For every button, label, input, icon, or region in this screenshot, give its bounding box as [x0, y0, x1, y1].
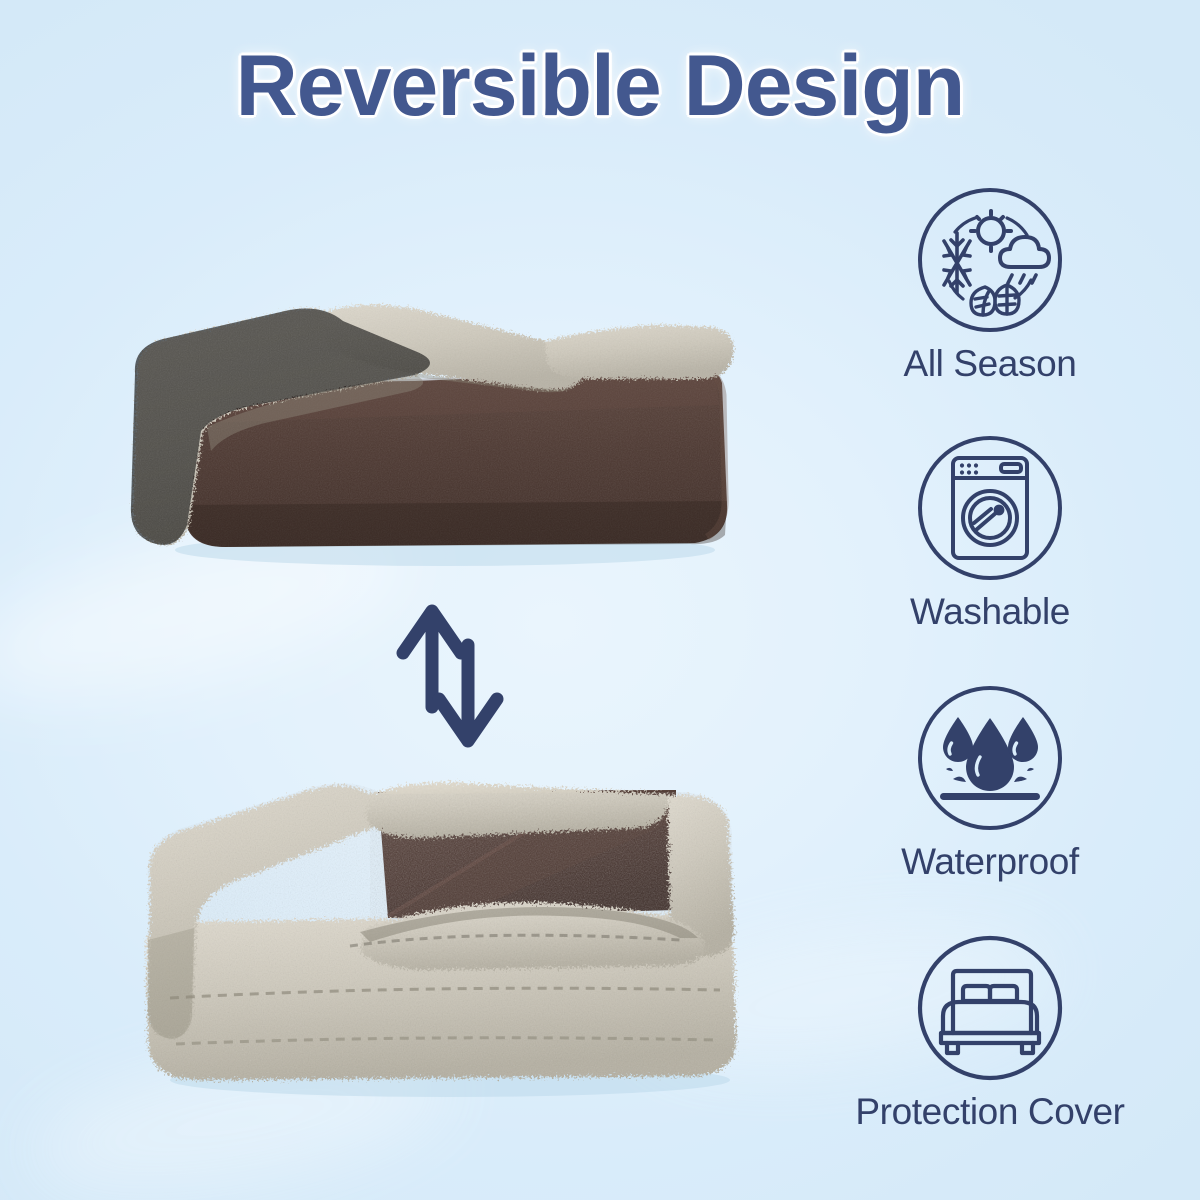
reversible-double-arrow-icon	[385, 595, 515, 755]
all-season-icon	[915, 185, 1065, 335]
washing-machine-icon	[915, 433, 1065, 583]
feature-label: Waterproof	[790, 839, 1190, 885]
feature-item-waterproof[interactable]: Waterproof	[790, 683, 1190, 885]
infographic-page: Reversible Design	[0, 0, 1200, 1200]
feature-label: Protection Cover	[790, 1089, 1190, 1135]
feature-label: All Season	[790, 341, 1190, 387]
bed-icon	[915, 933, 1065, 1083]
feature-item-washable[interactable]: Washable	[790, 433, 1190, 635]
feature-item-protection-cover[interactable]: Protection Cover	[790, 933, 1190, 1135]
feature-label: Washable	[790, 589, 1190, 635]
feature-item-all-season[interactable]: All Season	[790, 185, 1190, 387]
page-title: Reversible Design	[0, 38, 1200, 134]
water-drops-icon	[915, 683, 1065, 833]
blanket-photo-sherpa-up	[120, 750, 760, 1120]
blanket-photo-fleece-up	[115, 255, 755, 600]
feature-list: All Season	[790, 185, 1190, 1175]
